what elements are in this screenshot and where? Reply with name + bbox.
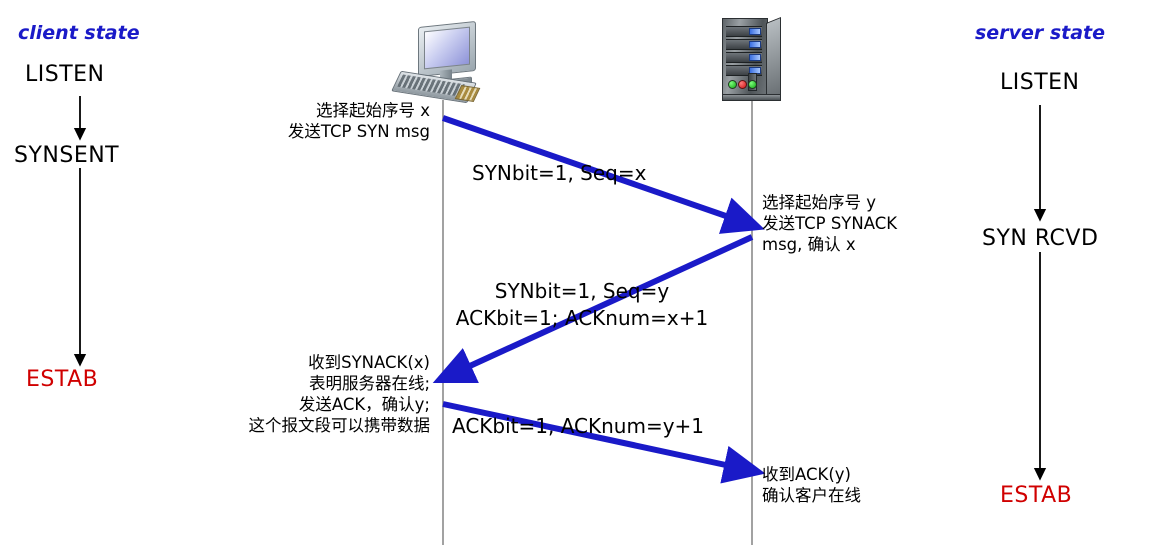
message-label-syn: SYNbit=1, Seq=x [472, 160, 646, 187]
tcp-handshake-diagram: client state server state LISTEN SYNSENT… [0, 0, 1156, 545]
desktop-computer-icon [396, 24, 482, 100]
note-line: 确认客户在线 [762, 485, 1012, 506]
note-line: 选择起始序号 y [762, 192, 1012, 213]
client-state-listen: LISTEN [25, 62, 105, 87]
message-label-synack: SYNbit=1, Seq=y ACKbit=1; ACKnum=x+1 [452, 278, 712, 332]
message-label-ack: ACKbit=1, ACKnum=y+1 [452, 413, 704, 440]
message-line: SYNbit=1, Seq=y [452, 278, 712, 305]
server-tower-icon [722, 18, 782, 102]
note-line: 收到SYNACK(x) [140, 352, 430, 373]
server-state-header: server state [975, 22, 1105, 44]
note-line: 发送TCP SYN msg [180, 121, 430, 142]
note-line: 发送ACK，确认y; [140, 394, 430, 415]
client-note-recv-synack: 收到SYNACK(x) 表明服务器在线; 发送ACK，确认y; 这个报文段可以携… [140, 352, 430, 436]
client-note-send-syn: 选择起始序号 x 发送TCP SYN msg [180, 100, 430, 142]
note-line: 发送TCP SYNACK [762, 213, 1012, 234]
message-line: SYNbit=1, Seq=x [472, 160, 646, 187]
note-line: 选择起始序号 x [180, 100, 430, 121]
server-note-send-synack: 选择起始序号 y 发送TCP SYNACK msg, 确认 x [762, 192, 1012, 255]
server-state-listen: LISTEN [1000, 70, 1080, 95]
client-state-header: client state [18, 22, 140, 44]
client-state-estab: ESTAB [26, 367, 98, 392]
message-line: ACKbit=1; ACKnum=x+1 [452, 305, 712, 332]
message-line: ACKbit=1, ACKnum=y+1 [452, 413, 704, 440]
client-state-synsent: SYNSENT [14, 143, 119, 168]
note-line: msg, 确认 x [762, 234, 1012, 255]
note-line: 收到ACK(y) [762, 464, 1012, 485]
note-line: 表明服务器在线; [140, 373, 430, 394]
server-note-recv-ack: 收到ACK(y) 确认客户在线 [762, 464, 1012, 506]
note-line: 这个报文段可以携带数据 [140, 415, 430, 436]
